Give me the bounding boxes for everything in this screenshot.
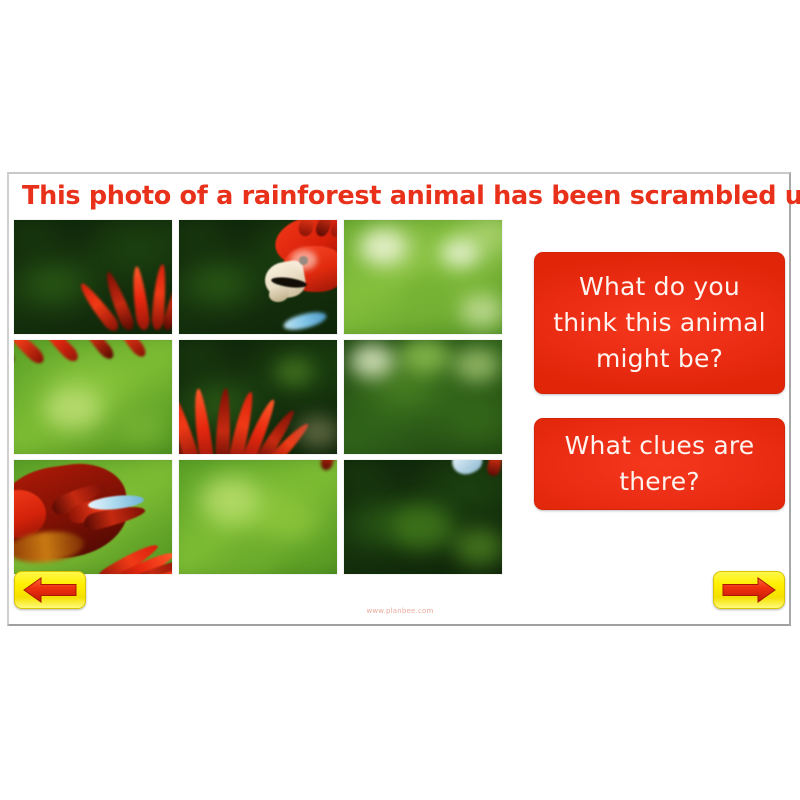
puzzle-tile[interactable] bbox=[343, 459, 503, 575]
arrow-right-icon bbox=[721, 577, 777, 603]
puzzle-tile[interactable] bbox=[178, 339, 338, 455]
blue-feather-hint bbox=[344, 460, 502, 574]
puzzle-tile[interactable] bbox=[343, 339, 503, 455]
highlight-blobs bbox=[344, 220, 502, 334]
forward-button[interactable] bbox=[713, 571, 785, 609]
back-button[interactable] bbox=[14, 571, 86, 609]
puzzle-tile[interactable] bbox=[178, 459, 338, 575]
highlight-blobs bbox=[14, 340, 172, 454]
page-title: This photo of a rainforest animal has be… bbox=[22, 179, 782, 213]
feather-tip-corner bbox=[179, 460, 337, 574]
puzzle-tile[interactable] bbox=[13, 339, 173, 455]
macaw-body bbox=[14, 460, 172, 574]
puzzle-tile[interactable] bbox=[178, 219, 338, 335]
wing-feather-spray bbox=[344, 340, 502, 454]
question-box-clues[interactable]: What clues are there? bbox=[534, 418, 785, 510]
puzzle-tile[interactable] bbox=[343, 219, 503, 335]
question-text: What clues are there? bbox=[547, 428, 772, 500]
macaw-head bbox=[179, 220, 337, 334]
puzzle-tile[interactable] bbox=[13, 459, 173, 575]
watermark: www.planbee.com bbox=[8, 607, 792, 615]
slide-card: This photo of a rainforest animal has be… bbox=[7, 172, 791, 626]
highlight-blobs bbox=[179, 340, 337, 454]
question-box-animal-guess[interactable]: What do you think this animal might be? bbox=[534, 252, 785, 394]
arrow-left-icon bbox=[22, 577, 78, 603]
puzzle-tile[interactable] bbox=[13, 219, 173, 335]
feather-cluster bbox=[14, 220, 172, 334]
question-text: What do you think this animal might be? bbox=[547, 269, 772, 377]
scrambled-photo-grid bbox=[13, 219, 507, 577]
